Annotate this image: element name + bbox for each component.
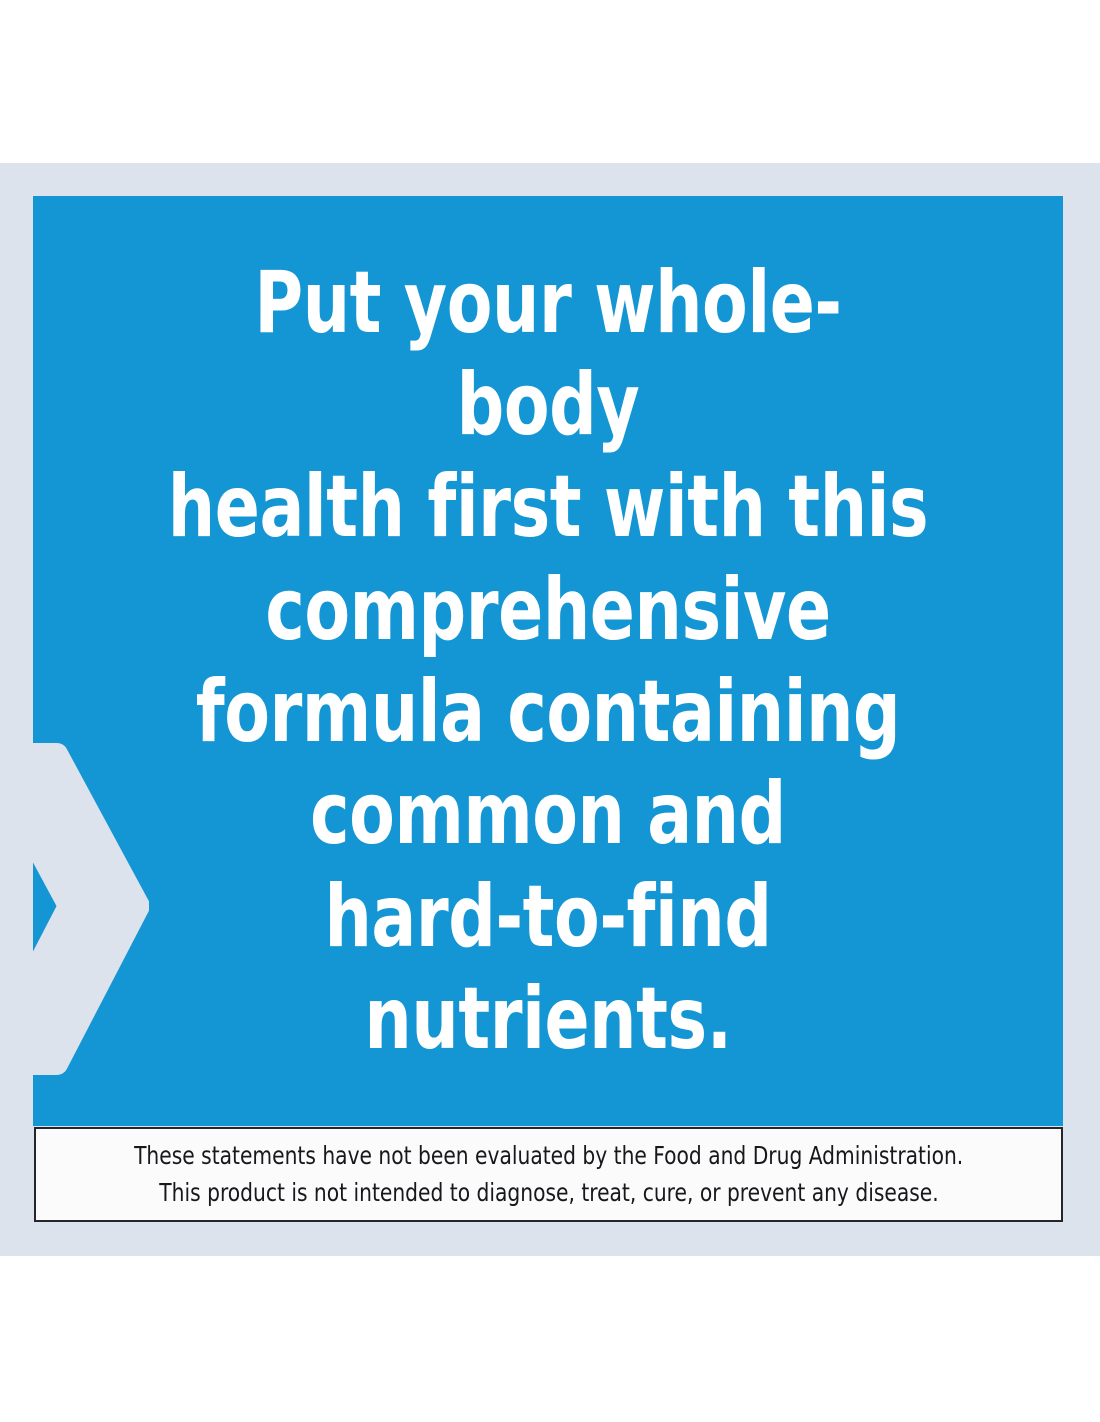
fda-disclaimer-box: These statements have not been evaluated… [34,1127,1063,1222]
disclaimer-line-2: This product is not intended to diagnose… [159,1175,938,1211]
headline-block: Put your whole-body health first with th… [33,196,1063,1126]
page-title: Put your whole-body health first with th… [165,252,930,1071]
promo-canvas: Put your whole-body health first with th… [0,0,1100,1422]
disclaimer-line-1: These statements have not been evaluated… [134,1138,963,1174]
